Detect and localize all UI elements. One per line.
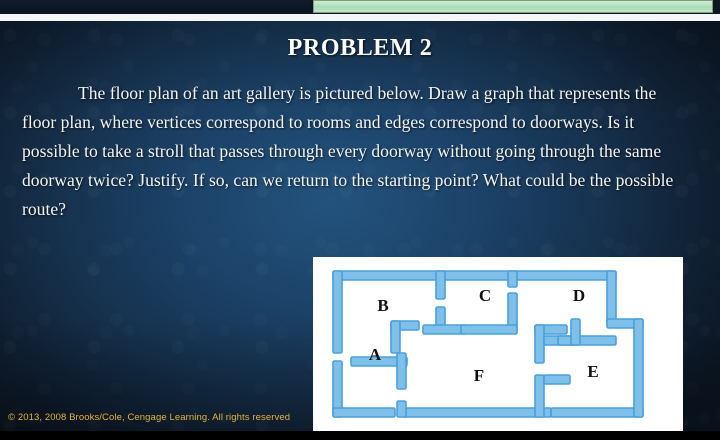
- slide-body-text: The floor plan of an art gallery is pict…: [22, 79, 682, 224]
- wall-outer-bottom-right: [551, 408, 643, 417]
- floor-plan-svg: A B C D E F: [313, 257, 683, 431]
- wall-c-bottom: [461, 325, 517, 334]
- room-label-d: D: [573, 286, 585, 305]
- room-label-a: A: [369, 345, 382, 364]
- wall-bc-crossbar: [423, 325, 466, 334]
- wall-de-connector: [571, 319, 580, 345]
- wall-outer-left-upper: [333, 271, 342, 353]
- presentation-slide: PROBLEM 2 The floor plan of an art galle…: [0, 21, 720, 431]
- wall-a-right-upper: [397, 353, 406, 389]
- wall-outer-top: [333, 271, 616, 280]
- wall-outer-right-upper: [607, 271, 616, 326]
- top-chrome-right-panel: [713, 0, 720, 14]
- top-chrome-left-panel: [0, 0, 311, 15]
- room-label-b: B: [377, 296, 388, 315]
- room-label-f: F: [474, 366, 484, 385]
- slide-screenshot: PROBLEM 2 The floor plan of an art galle…: [0, 0, 720, 440]
- wall-bc-divider-upper: [436, 271, 445, 299]
- room-label-c: C: [479, 286, 491, 305]
- floor-plan-figure: A B C D E F: [313, 257, 683, 431]
- copyright-footer: © 2013, 2008 Brooks/Cole, Cengage Learni…: [8, 412, 290, 423]
- top-green-bar[interactable]: [313, 0, 713, 13]
- wall-cd-divider-upper: [508, 271, 517, 287]
- wall-a-right-lower: [397, 401, 406, 417]
- slide-title: PROBLEM 2: [0, 35, 720, 62]
- figure-background: [313, 257, 683, 431]
- wall-de-divider-lower: [535, 375, 544, 417]
- chrome-white-gap: [0, 14, 720, 21]
- top-chrome-strip: [0, 0, 720, 14]
- wall-de-divider-upper: [535, 325, 544, 363]
- room-label-e: E: [587, 362, 598, 381]
- wall-outer-bottom-main: [403, 408, 551, 417]
- bottom-chrome-strip: [0, 431, 720, 440]
- wall-b-lower-jamb-vertical: [391, 321, 400, 353]
- wall-e-bottom-jamb: [544, 375, 570, 384]
- wall-outer-bottom-left: [333, 408, 395, 417]
- wall-e-top-right: [558, 336, 616, 345]
- wall-outer-right-far: [634, 319, 643, 417]
